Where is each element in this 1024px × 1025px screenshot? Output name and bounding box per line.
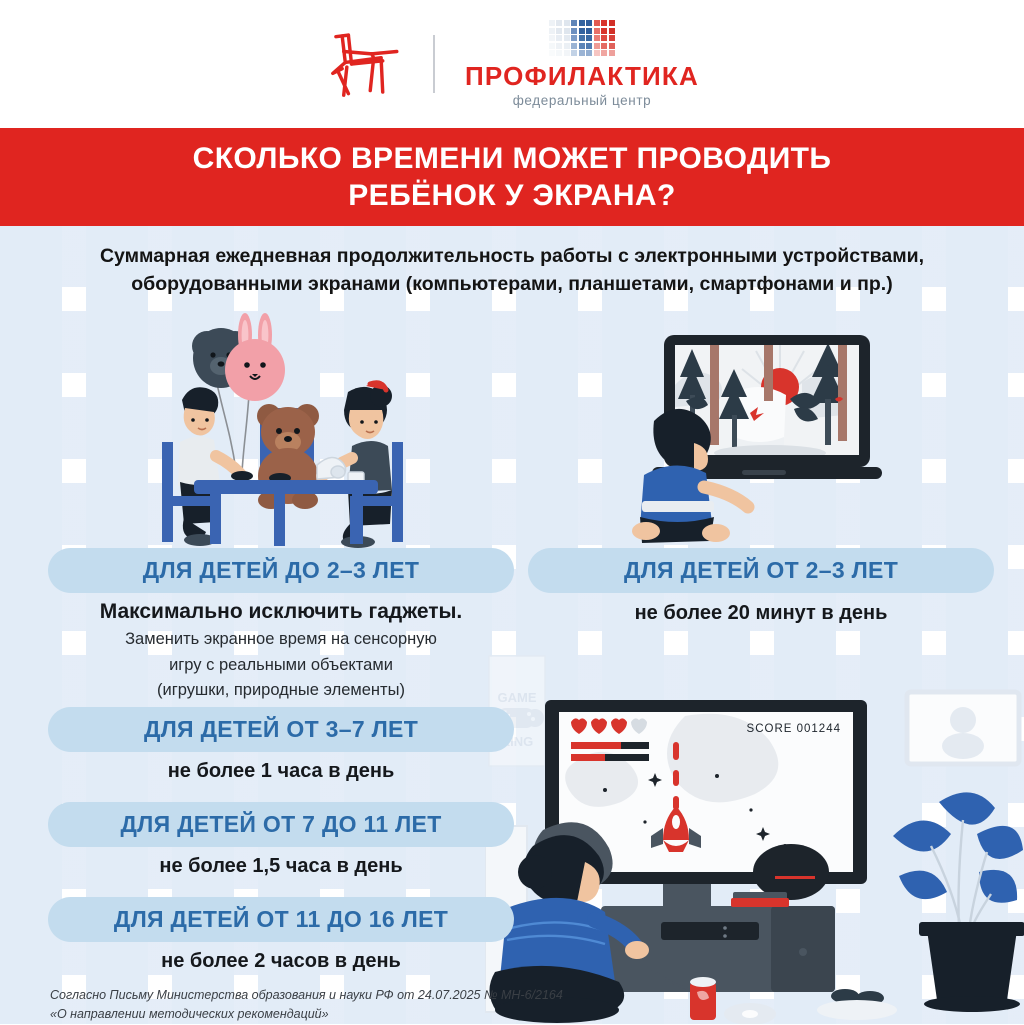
subtitle-line1: Суммарная ежедневная продолжительность р… — [0, 243, 1024, 271]
caption-headline: Максимально исключить гаджеты. — [36, 598, 526, 626]
caption-line-3: (игрушки, природные элементы) — [36, 679, 526, 702]
page-title-line2: РЕБЁНОК У ЭКРАНА? — [193, 177, 832, 215]
age-group-caption-under-2-3: Максимально исключить гаджеты. Заменить … — [36, 598, 526, 703]
brand-block: ПРОФИЛАКТИКА федеральный центр — [465, 20, 699, 108]
brand-subtitle: федеральный центр — [513, 93, 652, 108]
subtitle-line2: оборудованными экранами (компьютерами, п… — [0, 271, 1024, 299]
chair-line-art-icon — [325, 28, 403, 100]
brand-name: ПРОФИЛАКТИКА — [465, 63, 699, 89]
footnote-line2: «О направлении методических рекомендаций… — [50, 1005, 650, 1024]
age-group-caption-7-11: не более 1,5 часа в день — [48, 855, 514, 878]
children-tea-party-illustration — [152, 300, 420, 548]
age-group-pill-11-16[interactable]: ДЛЯ ДЕТЕЙ ОТ 11 ДО 16 ЛЕТ — [48, 897, 514, 942]
age-group-caption-from-2-3: не более 20 минут в день — [528, 602, 994, 625]
age-group-caption-11-16: не более 2 часов в день — [48, 950, 514, 973]
age-group-pill-7-11[interactable]: ДЛЯ ДЕТЕЙ ОТ 7 ДО 11 ЛЕТ — [48, 802, 514, 847]
child-watching-laptop-illustration — [630, 325, 892, 547]
caption-line-2: игру с реальными объектами — [36, 654, 526, 677]
logo-divider — [433, 35, 435, 93]
age-group-pill-under-2-3[interactable]: ДЛЯ ДЕТЕЙ ДО 2–3 ЛЕТ — [48, 548, 514, 593]
age-group-caption-3-7: не более 1 часа в день — [48, 760, 514, 783]
subtitle: Суммарная ежедневная продолжительность р… — [0, 243, 1024, 298]
page-title: СКОЛЬКО ВРЕМЕНИ МОЖЕТ ПРОВОДИТЬ РЕБЁНОК … — [193, 140, 832, 215]
page-title-line1: СКОЛЬКО ВРЕМЕНИ МОЖЕТ ПРОВОДИТЬ — [193, 140, 832, 178]
age-group-pill-from-2-3[interactable]: ДЛЯ ДЕТЕЙ ОТ 2–3 ЛЕТ — [528, 548, 994, 593]
logo-bar: ПРОФИЛАКТИКА федеральный центр — [0, 0, 1024, 128]
child-playing-console-illustration: GAME KING SCORE 0012 — [485, 650, 1024, 1024]
brand-grid-icon — [549, 20, 615, 56]
footnote: Согласно Письму Министерства образования… — [50, 986, 650, 1025]
age-group-pill-3-7[interactable]: ДЛЯ ДЕТЕЙ ОТ 3–7 ЛЕТ — [48, 707, 514, 752]
caption-line-1: Заменить экранное время на сенсорную — [36, 628, 526, 651]
game-score-label: SCORE 001244 — [747, 723, 841, 735]
title-band: СКОЛЬКО ВРЕМЕНИ МОЖЕТ ПРОВОДИТЬ РЕБЁНОК … — [0, 128, 1024, 226]
footnote-line1: Согласно Письму Министерства образования… — [50, 986, 650, 1005]
